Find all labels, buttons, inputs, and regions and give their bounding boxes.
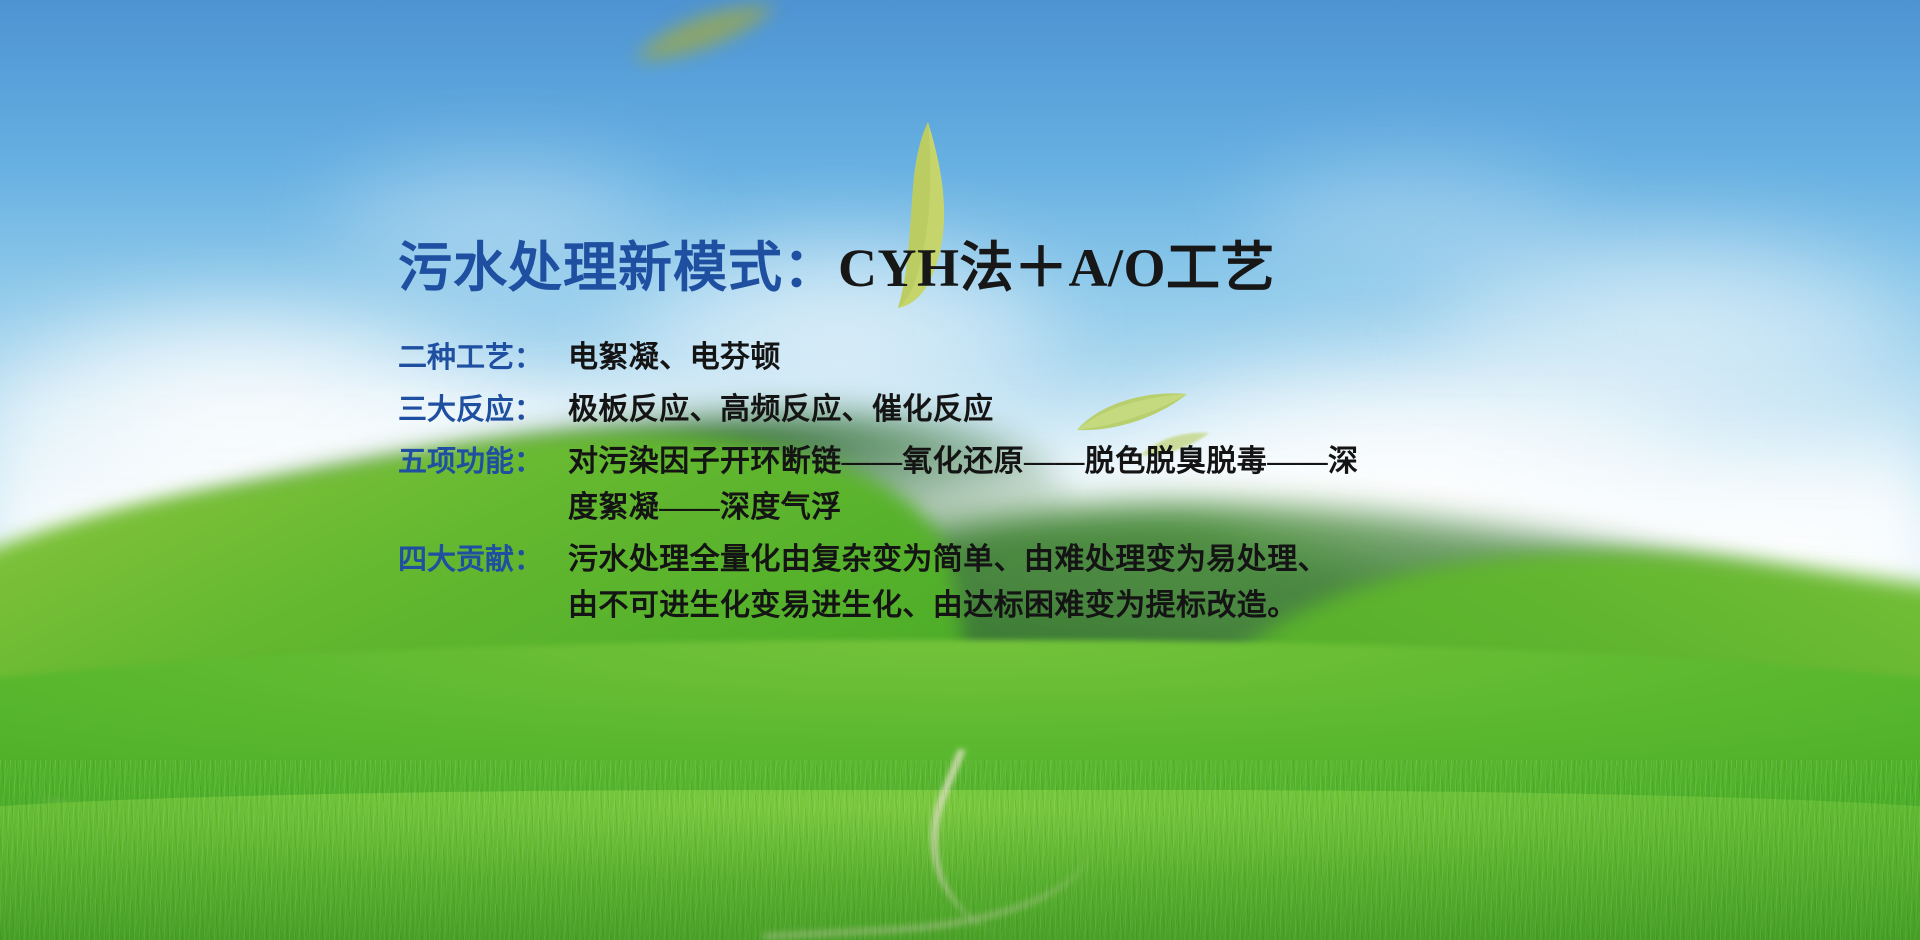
bullet-row: 四大贡献： 污水处理全量化由复杂变为简单、由难处理变为易处理、 由不可进生化变易… [398, 537, 1518, 629]
bullet-value-line: 极板反应、高频反应、催化反应 [568, 387, 1518, 433]
bullet-rows: 二种工艺： 电絮凝、电芬顿 三大反应： 极板反应、高频反应、催化反应 五项功能：… [398, 335, 1518, 629]
slide-canvas: 污水处理新模式：CYH法＋A/O工艺 二种工艺： 电絮凝、电芬顿 三大反应： 极… [0, 0, 1920, 940]
bullet-value-line: 污水处理全量化由复杂变为简单、由难处理变为易处理、 [568, 537, 1518, 583]
bullet-row: 三大反应： 极板反应、高频反应、催化反应 [398, 387, 1518, 433]
bullet-value: 极板反应、高频反应、催化反应 [568, 387, 1518, 433]
bullet-value: 污水处理全量化由复杂变为简单、由难处理变为易处理、 由不可进生化变易进生化、由达… [568, 537, 1518, 629]
cloud-shape [1450, 430, 1920, 690]
bullet-value-line: 电絮凝、电芬顿 [568, 335, 1518, 381]
bullet-row: 二种工艺： 电絮凝、电芬顿 [398, 335, 1518, 381]
bullet-value-line: 由不可进生化变易进生化、由达标困难变为提标改造。 [568, 583, 1518, 629]
bullet-value-line: 对污染因子开环断链——氧化还原——脱色脱臭脱毒——深 [568, 439, 1518, 485]
title-black-part: CYH法＋A/O工艺 [838, 238, 1275, 298]
text-block: 污水处理新模式：CYH法＋A/O工艺 二种工艺： 电絮凝、电芬顿 三大反应： 极… [398, 240, 1518, 635]
bullet-row: 五项功能： 对污染因子开环断链——氧化还原——脱色脱臭脱毒——深 度絮凝——深度… [398, 439, 1518, 531]
bullet-label: 三大反应： [398, 387, 568, 433]
bullet-label: 二种工艺： [398, 335, 568, 381]
bullet-value: 对污染因子开环断链——氧化还原——脱色脱臭脱毒——深 度絮凝——深度气浮 [568, 439, 1518, 531]
bullet-label: 五项功能： [398, 439, 568, 485]
bullet-label: 四大贡献： [398, 537, 568, 583]
title-blue-part: 污水处理新模式： [398, 238, 838, 298]
slide-title: 污水处理新模式：CYH法＋A/O工艺 [398, 240, 1518, 297]
bullet-value: 电絮凝、电芬顿 [568, 335, 1518, 381]
bullet-value-line: 度絮凝——深度气浮 [568, 485, 1518, 531]
